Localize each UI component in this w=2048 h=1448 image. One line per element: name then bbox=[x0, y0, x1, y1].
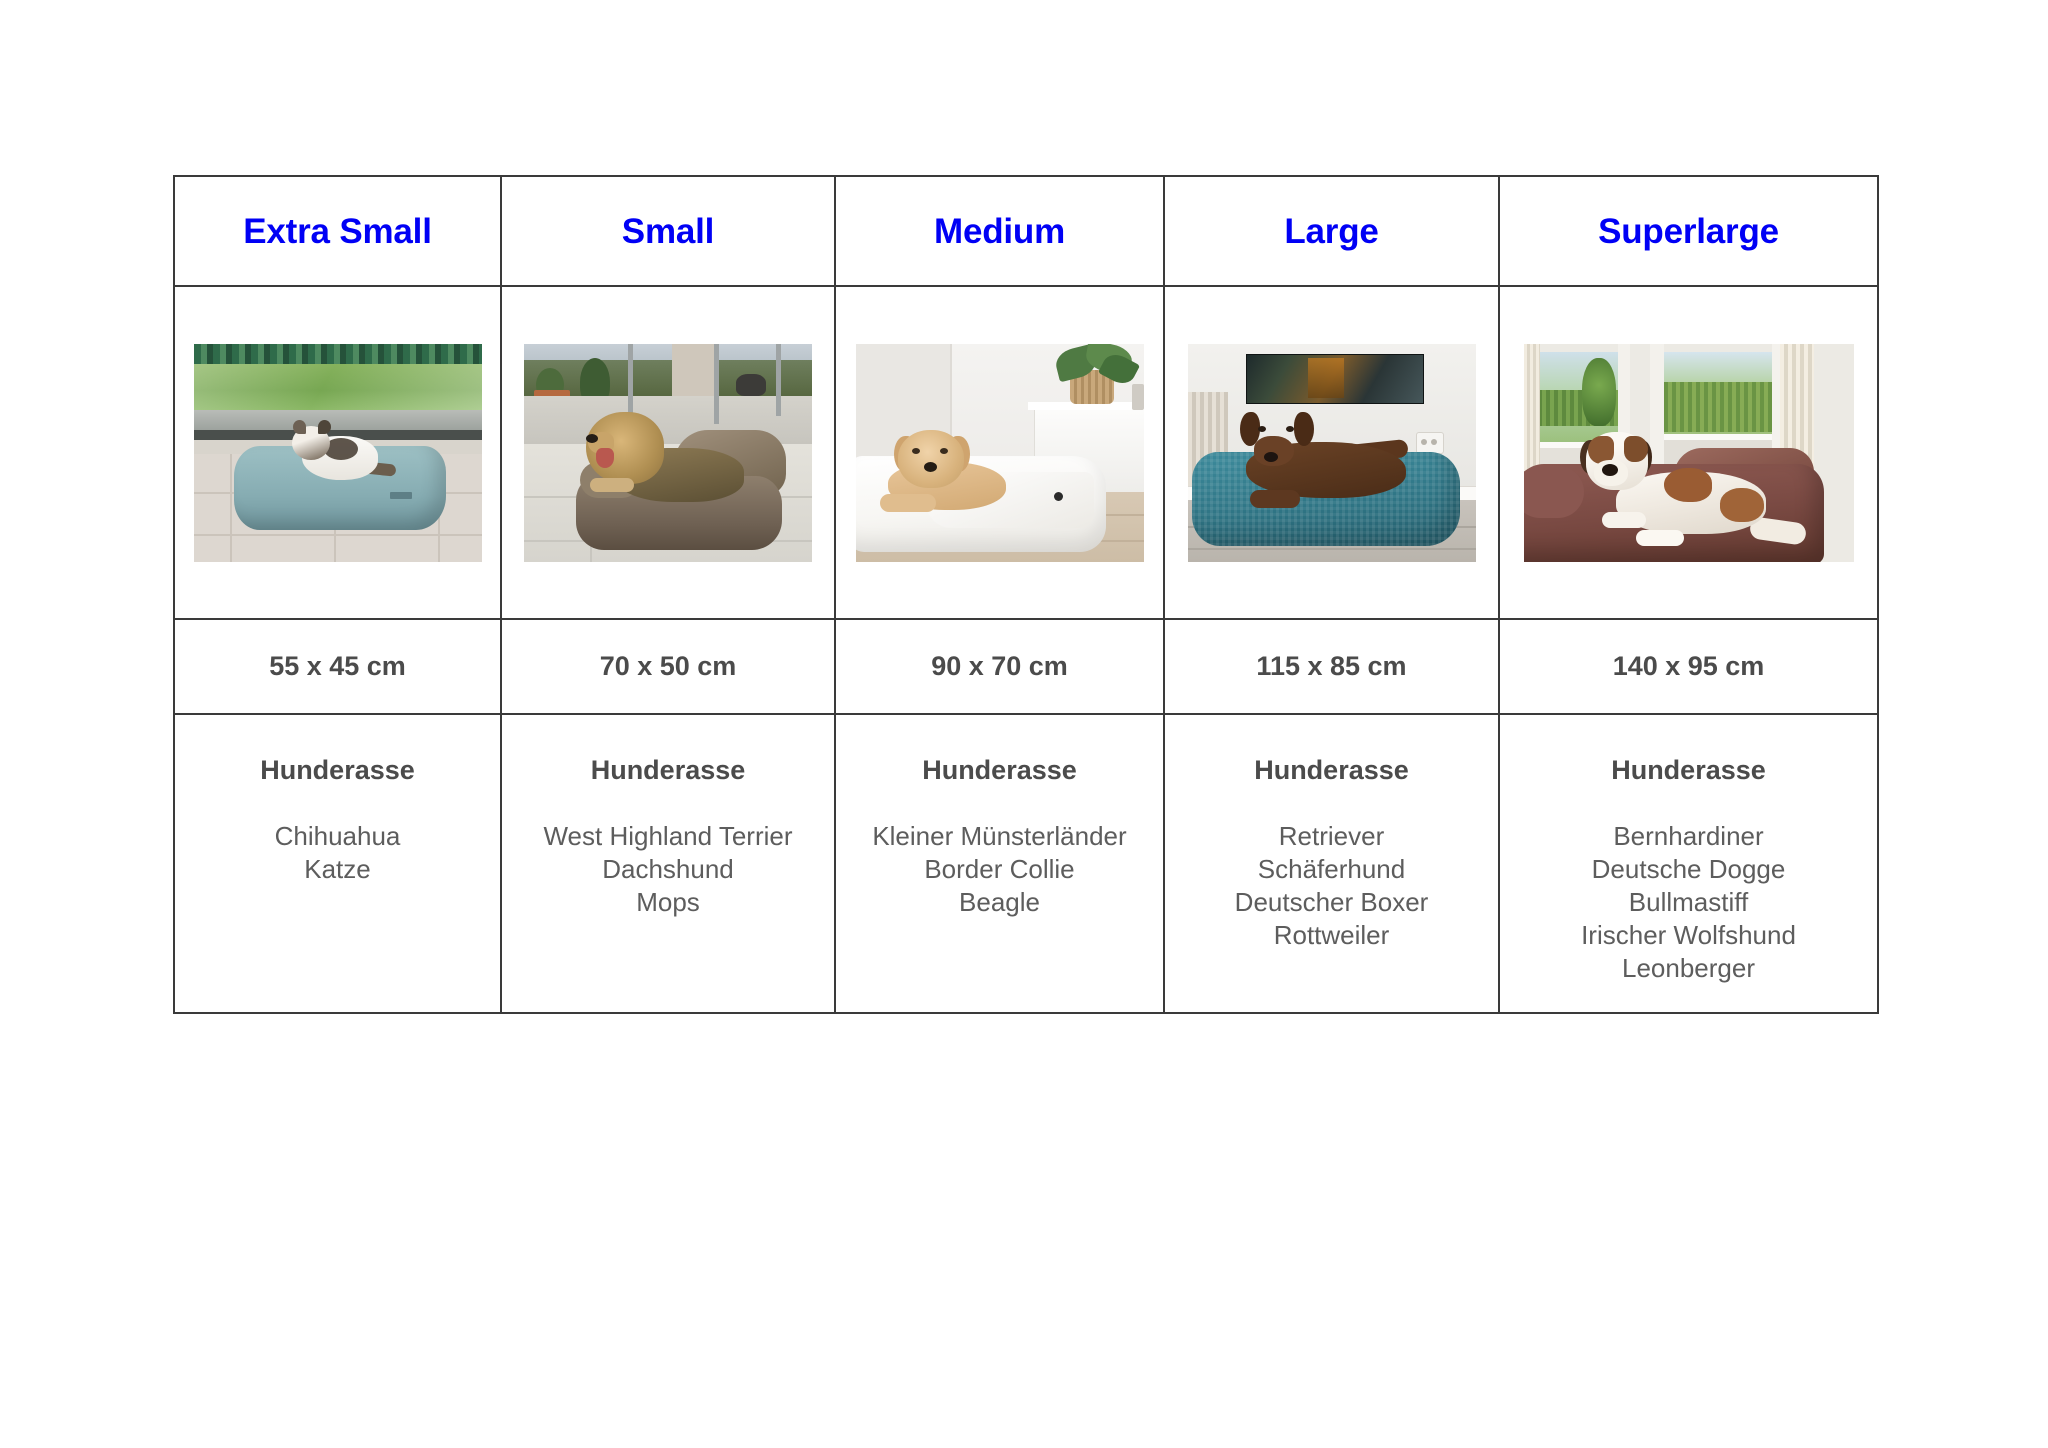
dimension-cell-medium: 90 x 70 cm bbox=[835, 619, 1164, 714]
painting-detail bbox=[1308, 358, 1344, 398]
table-breed-row: Hunderasse Chihuahua Katze Hunderasse We… bbox=[174, 714, 1878, 1013]
document-page: Extra Small Small Medium Large Superlarg… bbox=[0, 0, 2048, 1448]
header-cell-medium: Medium bbox=[835, 176, 1164, 286]
product-photo-medium bbox=[856, 344, 1144, 562]
dimension-label: 140 x 95 cm bbox=[1500, 653, 1877, 680]
fur-patch bbox=[1664, 468, 1712, 502]
window-frame bbox=[776, 344, 781, 416]
breed-list: Retriever Schäferhund Deutscher Boxer Ro… bbox=[1165, 820, 1498, 952]
breed-item: Rottweiler bbox=[1165, 919, 1498, 952]
dimension-label: 90 x 70 cm bbox=[836, 653, 1163, 680]
breed-item: Chihuahua bbox=[175, 820, 500, 853]
dimension-label: 55 x 45 cm bbox=[175, 653, 500, 680]
cat-ear bbox=[293, 420, 306, 434]
breed-item: Dachshund bbox=[502, 853, 834, 886]
labrador-nose bbox=[1264, 452, 1278, 462]
dimension-label: 115 x 85 cm bbox=[1165, 653, 1498, 680]
garden-hedge bbox=[1664, 382, 1774, 432]
breed-item: Irischer Wolfshund bbox=[1500, 919, 1877, 952]
cockapoo-paws bbox=[880, 494, 936, 512]
labrador-eye bbox=[1286, 426, 1294, 432]
header-cell-superlarge: Superlarge bbox=[1499, 176, 1878, 286]
size-name-label: Medium bbox=[836, 214, 1163, 249]
saint-bernard-nose bbox=[1602, 464, 1618, 476]
breed-item: Kleiner Münsterländer bbox=[836, 820, 1163, 853]
breed-cell-medium: Hunderasse Kleiner Münsterländer Border … bbox=[835, 714, 1164, 1013]
product-photo-superlarge bbox=[1524, 344, 1854, 562]
breed-heading: Hunderasse bbox=[502, 757, 834, 784]
image-cell-superlarge bbox=[1499, 286, 1878, 619]
socket-hole bbox=[1431, 439, 1437, 445]
product-photo-extra-small bbox=[194, 344, 482, 562]
breed-list: Chihuahua Katze bbox=[175, 820, 500, 886]
table-dimension-row: 55 x 45 cm 70 x 50 cm 90 x 70 cm 115 x 8… bbox=[174, 619, 1878, 714]
candle-holder bbox=[1132, 384, 1144, 410]
image-cell-extra-small bbox=[174, 286, 501, 619]
labrador-paw bbox=[1250, 490, 1300, 508]
breed-item: Schäferhund bbox=[1165, 853, 1498, 886]
breed-item: Retriever bbox=[1165, 820, 1498, 853]
hedge-background bbox=[194, 344, 482, 366]
cockapoo-eye bbox=[912, 448, 920, 454]
patio-curb bbox=[194, 410, 482, 432]
breed-cell-superlarge: Hunderasse Bernhardiner Deutsche Dogge B… bbox=[1499, 714, 1878, 1013]
terrier-tongue bbox=[596, 448, 614, 468]
terrier-nose bbox=[586, 434, 598, 443]
size-name-label: Small bbox=[502, 214, 834, 249]
breed-list: Bernhardiner Deutsche Dogge Bullmastiff … bbox=[1500, 820, 1877, 985]
table-header-row: Extra Small Small Medium Large Superlarg… bbox=[174, 176, 1878, 286]
breed-cell-small: Hunderasse West Highland Terrier Dachshu… bbox=[501, 714, 835, 1013]
cockapoo-nose bbox=[924, 462, 937, 472]
image-cell-large bbox=[1164, 286, 1499, 619]
window-frame bbox=[714, 344, 719, 424]
saint-bernard-paw bbox=[1602, 512, 1646, 528]
interior-wall bbox=[672, 344, 714, 402]
window-mullion bbox=[1650, 344, 1664, 472]
breed-cell-large: Hunderasse Retriever Schäferhund Deutsch… bbox=[1164, 714, 1499, 1013]
breed-item: Border Collie bbox=[836, 853, 1163, 886]
breed-heading: Hunderasse bbox=[836, 757, 1163, 784]
cockapoo-eye bbox=[940, 448, 948, 454]
breed-list: West Highland Terrier Dachshund Mops bbox=[502, 820, 834, 919]
header-cell-extra-small: Extra Small bbox=[174, 176, 501, 286]
size-name-label: Large bbox=[1165, 214, 1498, 249]
header-cell-large: Large bbox=[1164, 176, 1499, 286]
bed-brand-label bbox=[1054, 492, 1063, 501]
person-outside bbox=[736, 374, 766, 396]
dimension-cell-large: 115 x 85 cm bbox=[1164, 619, 1499, 714]
bed-brand-label bbox=[390, 492, 412, 499]
dimension-label: 70 x 50 cm bbox=[502, 653, 834, 680]
breed-item: West Highland Terrier bbox=[502, 820, 834, 853]
size-name-label: Extra Small bbox=[175, 214, 500, 249]
labrador-eye bbox=[1258, 426, 1266, 432]
face-mask-patch bbox=[1624, 436, 1648, 462]
breed-item: Bullmastiff bbox=[1500, 886, 1877, 919]
dimension-cell-small: 70 x 50 cm bbox=[501, 619, 835, 714]
breed-item: Mops bbox=[502, 886, 834, 919]
table-image-row bbox=[174, 286, 1878, 619]
cat-ear bbox=[318, 420, 331, 434]
header-cell-small: Small bbox=[501, 176, 835, 286]
breed-heading: Hunderasse bbox=[1165, 757, 1498, 784]
breed-heading: Hunderasse bbox=[175, 757, 500, 784]
product-photo-small bbox=[524, 344, 812, 562]
breed-item: Katze bbox=[175, 853, 500, 886]
dimension-cell-superlarge: 140 x 95 cm bbox=[1499, 619, 1878, 714]
breed-cell-extra-small: Hunderasse Chihuahua Katze bbox=[174, 714, 501, 1013]
breed-item: Deutsche Dogge bbox=[1500, 853, 1877, 886]
garden-bush bbox=[1582, 358, 1616, 426]
breed-heading: Hunderasse bbox=[1500, 757, 1877, 784]
dog-bed-size-table: Extra Small Small Medium Large Superlarg… bbox=[173, 175, 1879, 1014]
breed-item: Beagle bbox=[836, 886, 1163, 919]
wall-socket bbox=[1416, 432, 1444, 454]
floor-board-line bbox=[1188, 548, 1476, 550]
tile-grout-line bbox=[230, 454, 232, 562]
image-cell-medium bbox=[835, 286, 1164, 619]
bed-bolster bbox=[1524, 466, 1584, 518]
terrier-paw bbox=[590, 478, 634, 492]
fur-patch bbox=[1720, 488, 1764, 522]
dimension-cell-extra-small: 55 x 45 cm bbox=[174, 619, 501, 714]
saint-bernard-paw bbox=[1636, 530, 1684, 546]
breed-list: Kleiner Münsterländer Border Collie Beag… bbox=[836, 820, 1163, 919]
breed-item: Leonberger bbox=[1500, 952, 1877, 985]
socket-hole bbox=[1421, 439, 1427, 445]
breed-item: Deutscher Boxer bbox=[1165, 886, 1498, 919]
breed-item: Bernhardiner bbox=[1500, 820, 1877, 853]
cockapoo-head bbox=[898, 430, 964, 488]
size-name-label: Superlarge bbox=[1500, 214, 1877, 249]
product-photo-large bbox=[1188, 344, 1476, 562]
glass-reflection bbox=[194, 364, 482, 412]
image-cell-small bbox=[501, 286, 835, 619]
